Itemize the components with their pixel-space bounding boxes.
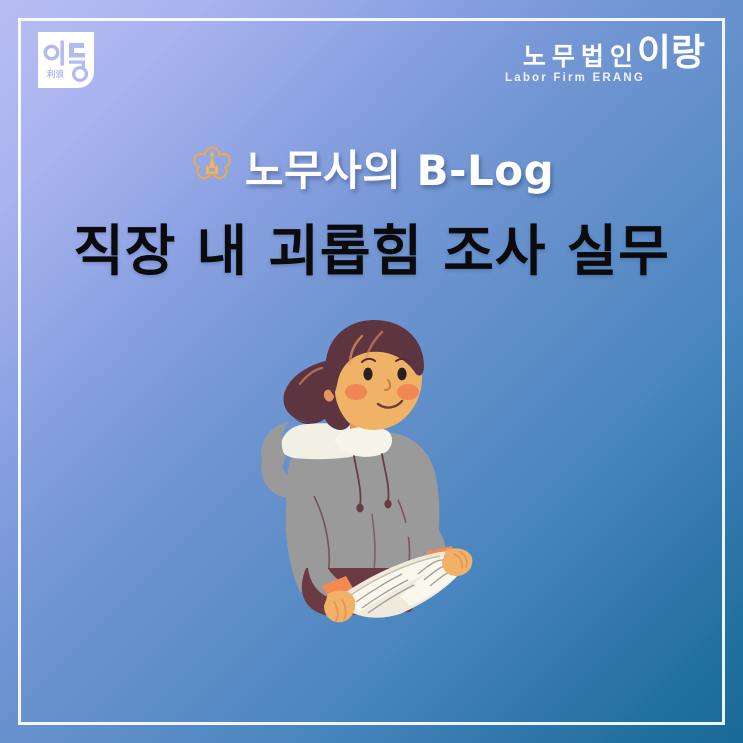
kicker-row: 노무사의 B-Log xyxy=(0,136,743,198)
page-title: 직장 내 괴롭힘 조사 실무 xyxy=(0,206,743,286)
headline-block: 노무사의 B-Log 직장 내 괴롭힘 조사 실무 xyxy=(0,136,743,286)
blush-left xyxy=(345,384,367,400)
eye-right xyxy=(397,368,406,381)
erang-logo-icon: 利浪 xyxy=(38,32,94,88)
mugunghwa-emblem-icon xyxy=(189,144,235,190)
woman-reading-book-illustration xyxy=(222,300,522,650)
svg-text:利浪: 利浪 xyxy=(46,69,65,80)
brand-korean-prefix: 노무법인 xyxy=(523,44,639,69)
hand-left xyxy=(324,591,355,623)
blush-right xyxy=(397,384,419,400)
kicker-text: 노무사의 B-Log xyxy=(245,137,554,198)
promo-card: 利浪 노무법인 이랑 Labor Firm ERANG xyxy=(0,0,743,743)
hand-right xyxy=(442,548,472,576)
brand-korean-name: 이랑 xyxy=(637,34,705,71)
brand-lockup: 노무법인 이랑 Labor Firm ERANG xyxy=(505,34,705,85)
brand-english-subtitle: Labor Firm ERANG xyxy=(505,73,645,85)
eye-left xyxy=(363,368,372,381)
brand-korean-row: 노무법인 이랑 xyxy=(505,34,705,71)
